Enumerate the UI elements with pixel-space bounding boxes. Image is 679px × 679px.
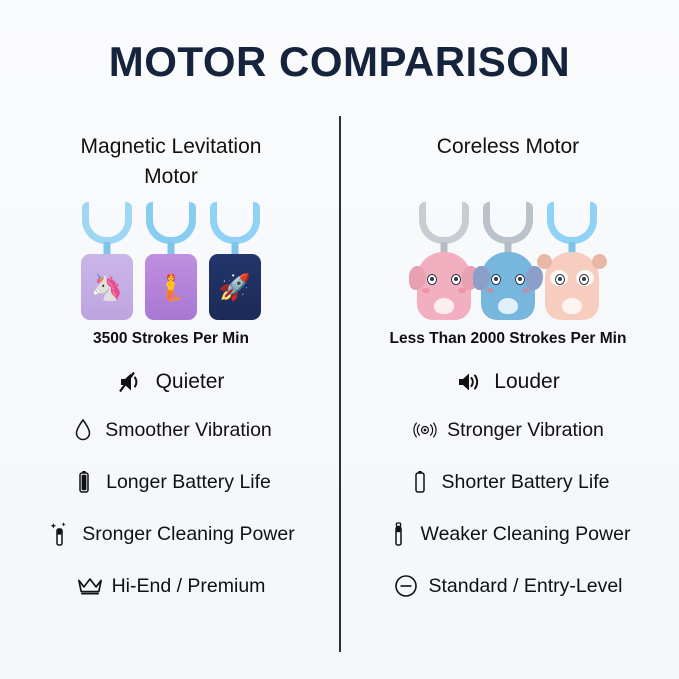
brush-head-icon <box>419 202 469 244</box>
speaker-mute-icon <box>118 369 144 395</box>
ear-right <box>526 266 543 290</box>
ear-left <box>409 266 426 290</box>
snout <box>434 298 454 314</box>
pink-panda-toothbrush <box>543 202 601 320</box>
feature-label: Smoother Vibration <box>105 419 272 442</box>
feature-row-quieter: Quieter <box>6 360 336 404</box>
eye-left <box>491 274 501 285</box>
vibration-waves-icon <box>412 417 438 443</box>
unicorn-art-icon: 🦄 <box>81 254 133 320</box>
speaker-loud-icon <box>456 369 482 395</box>
strokes-per-min-right: Less Than 2000 Strokes Per Min <box>343 330 673 348</box>
brush-head-icon <box>146 202 196 244</box>
eye-right <box>451 274 461 285</box>
rocket-toothbrush: 🚀 <box>206 202 264 320</box>
column-coreless: Coreless Motor <box>343 132 673 612</box>
column-header-left-line1: Magnetic Levitation <box>6 132 336 162</box>
unicorn-toothbrush: 🦄 <box>78 202 136 320</box>
water-droplet-icon <box>70 417 96 443</box>
feature-row-louder: Louder <box>343 360 673 404</box>
column-header-left: Magnetic Levitation Motor <box>6 132 336 194</box>
product-images-right <box>343 200 673 320</box>
column-magnetic-levitation: Magnetic Levitation Motor 🦄 🧜 <box>6 132 336 612</box>
handle-body <box>417 252 471 320</box>
column-header-right-line1: Coreless Motor <box>343 132 673 162</box>
handle-body: 🚀 <box>209 254 261 320</box>
handle-body <box>545 252 599 320</box>
handle-body: 🧜 <box>145 254 197 320</box>
product-images-left: 🦄 🧜 🚀 <box>6 200 336 320</box>
handle-body <box>481 252 535 320</box>
feature-row-premium: Hi-End / Premium <box>6 560 336 612</box>
eye-right <box>579 274 589 285</box>
strokes-per-min-left: 3500 Strokes Per Min <box>6 330 336 348</box>
column-header-left-line2: Motor <box>6 162 336 192</box>
handle-body: 🦄 <box>81 254 133 320</box>
snout <box>562 298 582 314</box>
sparkle-brush-icon <box>47 521 73 547</box>
ear-left <box>473 266 490 290</box>
feature-label: Standard / Entry-Level <box>428 575 622 598</box>
feature-row-smoother-vibration: Smoother Vibration <box>6 404 336 456</box>
cheek-right <box>458 288 466 293</box>
page-title: MOTOR COMPARISON <box>0 40 679 84</box>
feature-label: Sronger Cleaning Power <box>82 523 294 546</box>
eye-left <box>427 274 437 285</box>
feature-list-left: Quieter Smoother Vibration <box>6 360 336 612</box>
brush-icon <box>386 521 412 547</box>
mermaid-art-icon: 🧜 <box>145 254 197 320</box>
ear-left <box>537 254 552 269</box>
ear-right <box>592 254 607 269</box>
brush-head-icon <box>547 202 597 244</box>
cheek-left <box>422 288 430 293</box>
feature-row-longer-battery: Longer Battery Life <box>6 456 336 508</box>
snout <box>498 298 518 314</box>
brush-head-icon <box>210 202 260 244</box>
battery-full-icon <box>71 469 97 495</box>
feature-label: Quieter <box>156 370 225 394</box>
feature-list-right: Louder Stronger Vibration <box>343 360 673 612</box>
feature-row-standard: Standard / Entry-Level <box>343 560 673 612</box>
brush-head-icon <box>82 202 132 244</box>
feature-row-shorter-battery: Shorter Battery Life <box>343 456 673 508</box>
eye-left <box>555 274 565 285</box>
feature-label: Longer Battery Life <box>106 471 271 494</box>
column-divider <box>339 116 341 652</box>
minus-circle-icon <box>393 573 419 599</box>
battery-empty-icon <box>407 469 433 495</box>
feature-row-weaker-cleaning: Weaker Cleaning Power <box>343 508 673 560</box>
comparison-infographic: MOTOR COMPARISON Magnetic Levitation Mot… <box>0 0 679 679</box>
mermaid-toothbrush: 🧜 <box>142 202 200 320</box>
column-header-right: Coreless Motor <box>343 132 673 194</box>
eye-right <box>515 274 525 285</box>
brush-head-icon <box>483 202 533 244</box>
blue-elephant-toothbrush <box>479 202 537 320</box>
cheek-right <box>522 288 530 293</box>
feature-label: Louder <box>494 370 559 394</box>
feature-row-stronger-vibration: Stronger Vibration <box>343 404 673 456</box>
feature-label: Shorter Battery Life <box>442 471 610 494</box>
feature-label: Weaker Cleaning Power <box>421 523 631 546</box>
crown-icon <box>77 573 103 599</box>
feature-label: Hi-End / Premium <box>112 575 266 598</box>
rocket-art-icon: 🚀 <box>209 254 261 320</box>
feature-row-stronger-cleaning: Sronger Cleaning Power <box>6 508 336 560</box>
feature-label: Stronger Vibration <box>447 419 604 442</box>
cheek-left <box>486 288 494 293</box>
pink-elephant-toothbrush <box>415 202 473 320</box>
